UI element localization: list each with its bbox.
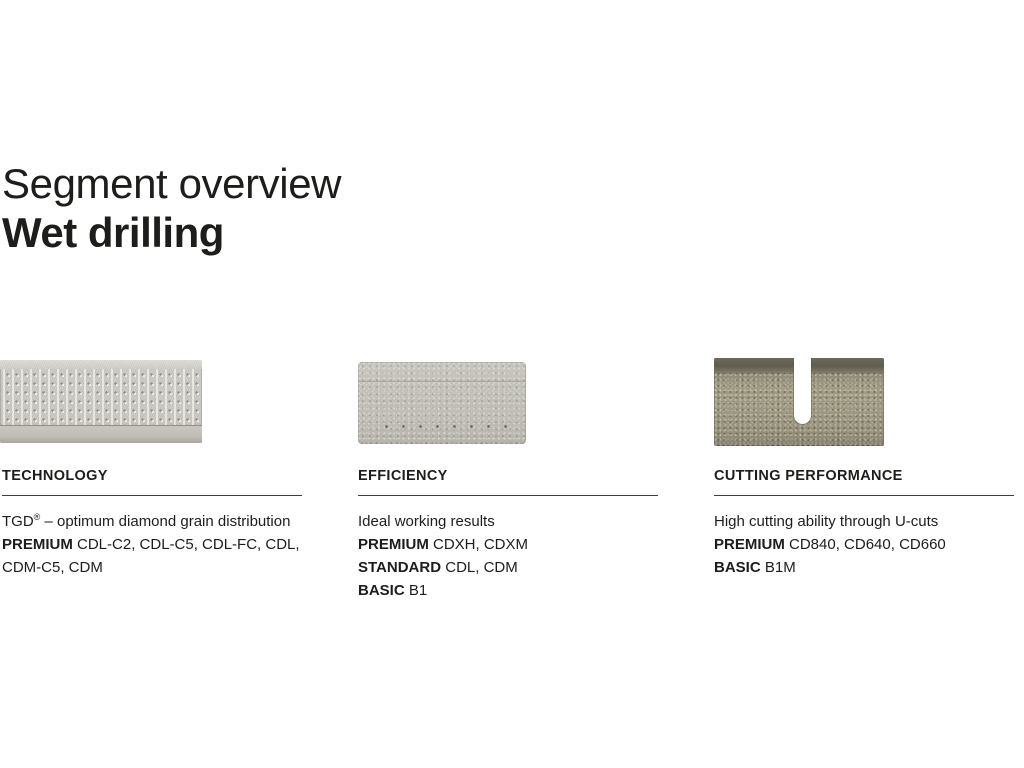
page-title-line1: Segment overview bbox=[2, 160, 602, 208]
lead-suffix: – optimum diamond grain distribution bbox=[40, 513, 290, 530]
tier-label: BASIC bbox=[358, 582, 405, 599]
segment-figure-technology bbox=[2, 352, 302, 447]
segment-figure-efficiency bbox=[358, 352, 658, 447]
tier-label: PREMIUM bbox=[714, 536, 785, 553]
column-lead-cutting-performance: High cutting ability through U-cuts bbox=[714, 510, 1014, 533]
tier-row: BASIC B1 bbox=[358, 579, 658, 602]
column-lead-efficiency: Ideal working results bbox=[358, 510, 658, 533]
column-heading-efficiency: EFFICIENCY bbox=[358, 468, 448, 484]
tier-label: BASIC bbox=[714, 559, 761, 576]
page-title: Segment overview Wet drilling bbox=[2, 160, 602, 258]
tier-label: PREMIUM bbox=[358, 536, 429, 553]
tier-row: STANDARD CDL, CDM bbox=[358, 556, 658, 579]
segment-photo-tgd-grid bbox=[0, 360, 202, 443]
tier-label: PREMIUM bbox=[2, 536, 73, 553]
column-rule-technology bbox=[2, 495, 302, 496]
column-body-technology: TGD® – optimum diamond grain distributio… bbox=[2, 510, 302, 579]
segment-texture-overlay bbox=[358, 362, 526, 444]
tier-value: B1 bbox=[409, 582, 427, 599]
tier-label: STANDARD bbox=[358, 559, 441, 576]
column-rule-cutting-performance bbox=[714, 495, 1014, 496]
segment-grain-dots bbox=[378, 425, 516, 428]
column-body-efficiency: Ideal working results PREMIUM CDXH, CDXM… bbox=[358, 510, 658, 602]
segment-bottom-band bbox=[0, 425, 202, 443]
segment-column-technology: TECHNOLOGY TGD® – optimum diamond grain … bbox=[2, 352, 302, 447]
segment-photo-plain-block bbox=[358, 362, 526, 444]
tier-value: CDXH, CDXM bbox=[433, 536, 528, 553]
column-lead-technology: TGD® – optimum diamond grain distributio… bbox=[2, 510, 302, 533]
segment-photo-u-cut bbox=[714, 358, 884, 446]
tier-row: PREMIUM CD840, CD640, CD660 bbox=[714, 533, 1014, 556]
column-heading-technology: TECHNOLOGY bbox=[2, 468, 108, 484]
diamond-grain-grid bbox=[3, 370, 199, 427]
column-heading-cutting-performance: CUTTING PERFORMANCE bbox=[714, 468, 903, 484]
lead-prefix: TGD bbox=[2, 513, 34, 530]
segment-column-efficiency: EFFICIENCY Ideal working results PREMIUM… bbox=[358, 352, 658, 447]
tier-value: CDL, CDM bbox=[445, 559, 518, 576]
segment-figure-cutting-performance bbox=[714, 352, 1014, 447]
tier-row: BASIC B1M bbox=[714, 556, 1014, 579]
page-title-line2: Wet drilling bbox=[2, 208, 602, 258]
tier-value: B1M bbox=[765, 559, 796, 576]
segment-column-cutting-performance: CUTTING PERFORMANCE High cutting ability… bbox=[714, 352, 1014, 447]
tier-row: PREMIUM CDXH, CDXM bbox=[358, 533, 658, 556]
tier-row: PREMIUM CDL-C2, CDL-C5, CDL-FC, CDL, CDM… bbox=[2, 533, 302, 579]
column-rule-efficiency bbox=[358, 495, 658, 496]
column-body-cutting-performance: High cutting ability through U-cuts PREM… bbox=[714, 510, 1014, 579]
tier-value: CD840, CD640, CD660 bbox=[789, 536, 946, 553]
segment-seam-line bbox=[358, 381, 526, 383]
u-cut-notch bbox=[794, 358, 811, 424]
